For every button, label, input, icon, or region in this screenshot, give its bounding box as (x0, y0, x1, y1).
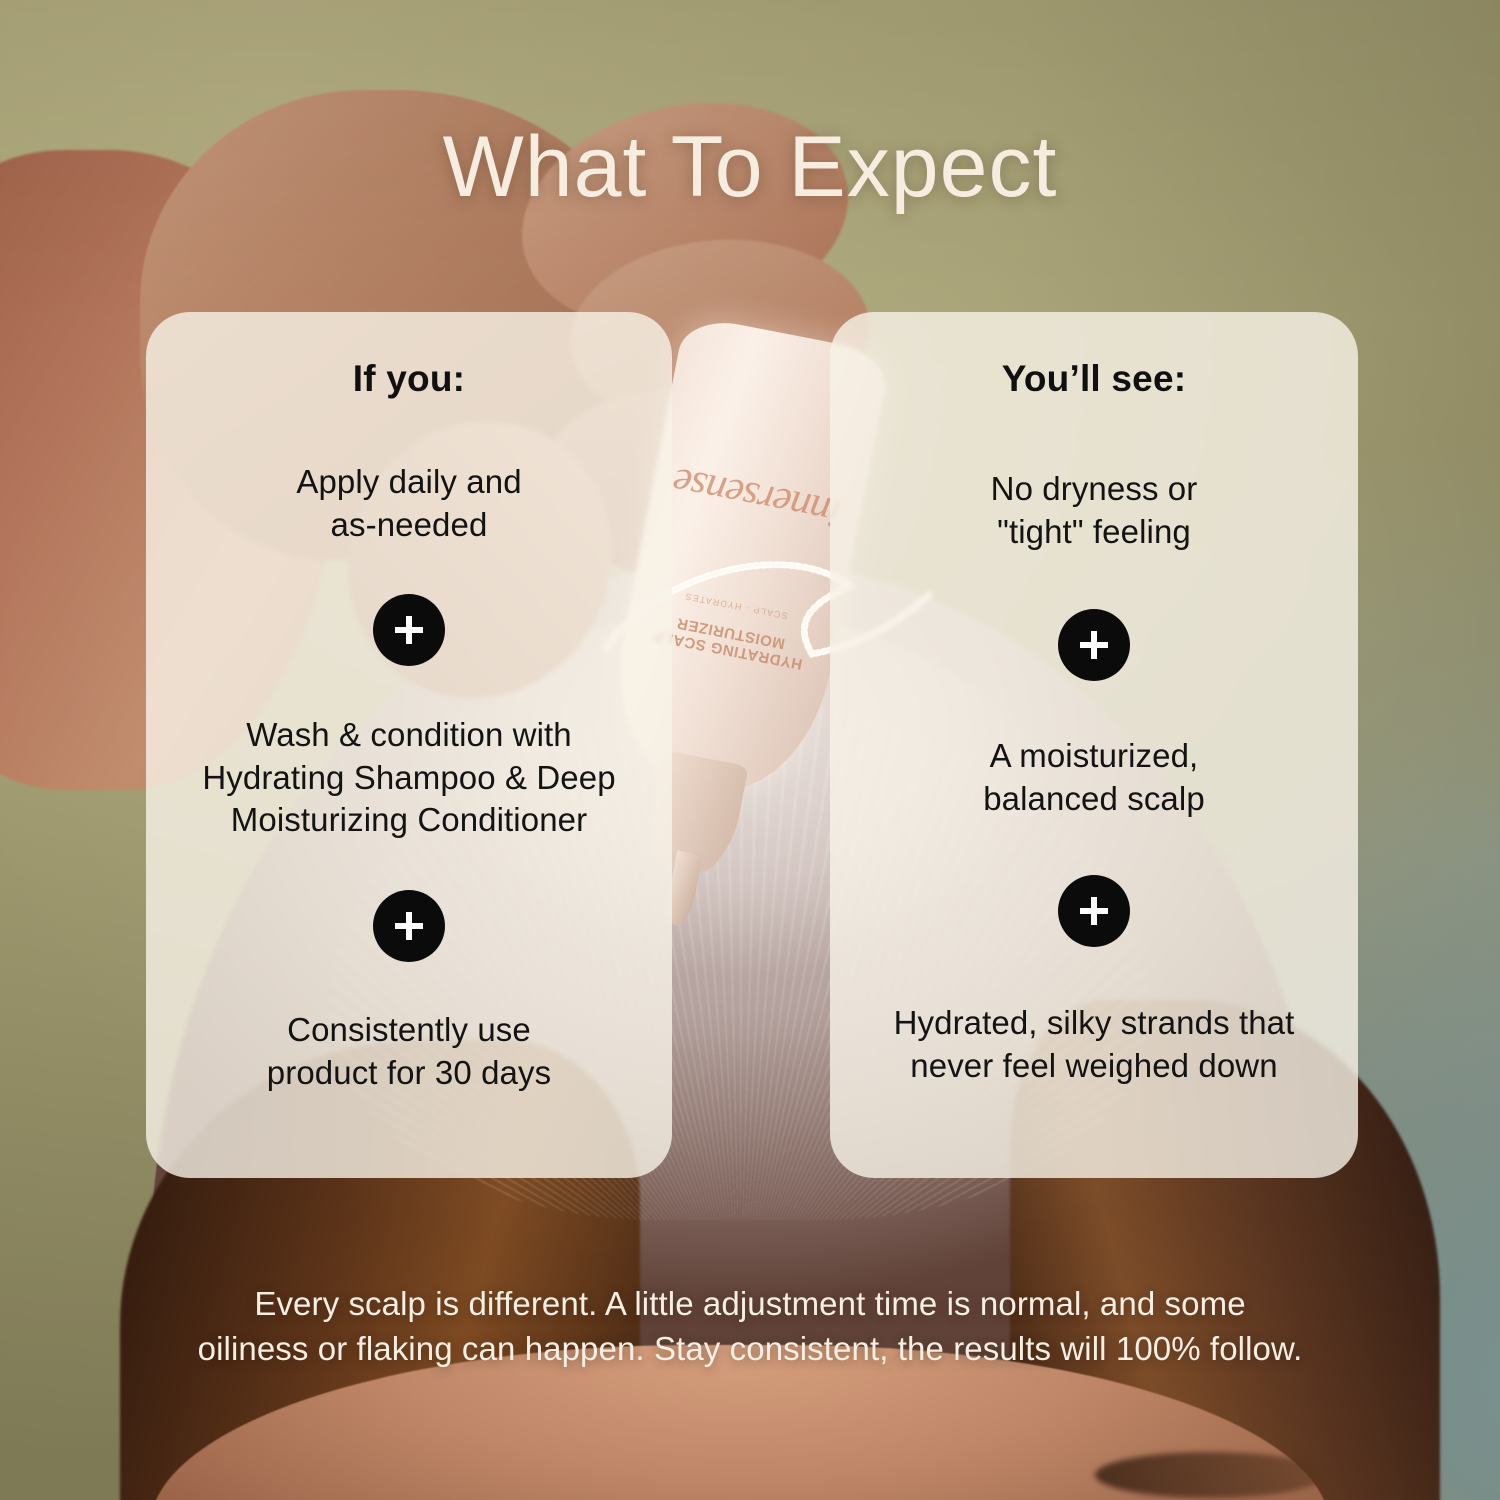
card-if-you-items: Apply daily andas-needed Wash & conditio… (176, 400, 642, 1148)
page-title: What To Expect (0, 118, 1500, 217)
footnote: Every scalp is different. A little adjus… (120, 1282, 1380, 1372)
screenshot-canvas: innersense SCALP · HYDRATES HYDRATING SC… (0, 0, 1500, 1500)
card-youll-see-items: No dryness or"tight" feeling A moisturiz… (860, 400, 1328, 1148)
card-if-you: If you: Apply daily andas-needed Wash & … (146, 312, 672, 1178)
plus-icon (373, 890, 445, 962)
plus-icon (373, 594, 445, 666)
list-item: Consistently useproduct for 30 days (261, 1009, 557, 1095)
plus-icon (1058, 609, 1130, 681)
card-youll-see-heading: You’ll see: (1002, 358, 1187, 400)
list-item: No dryness or"tight" feeling (985, 468, 1204, 554)
card-if-you-heading: If you: (353, 358, 465, 400)
list-item: Wash & condition withHydrating Shampoo &… (196, 714, 621, 843)
list-item: A moisturized,balanced scalp (977, 735, 1211, 821)
footnote-line-2: oiliness or flaking can happen. Stay con… (120, 1327, 1380, 1372)
plus-icon (1058, 875, 1130, 947)
list-item: Apply daily andas-needed (290, 461, 527, 547)
card-youll-see: You’ll see: No dryness or"tight" feeling… (830, 312, 1358, 1178)
list-item: Hydrated, silky strands thatnever feel w… (888, 1002, 1301, 1088)
footnote-line-1: Every scalp is different. A little adjus… (120, 1282, 1380, 1327)
